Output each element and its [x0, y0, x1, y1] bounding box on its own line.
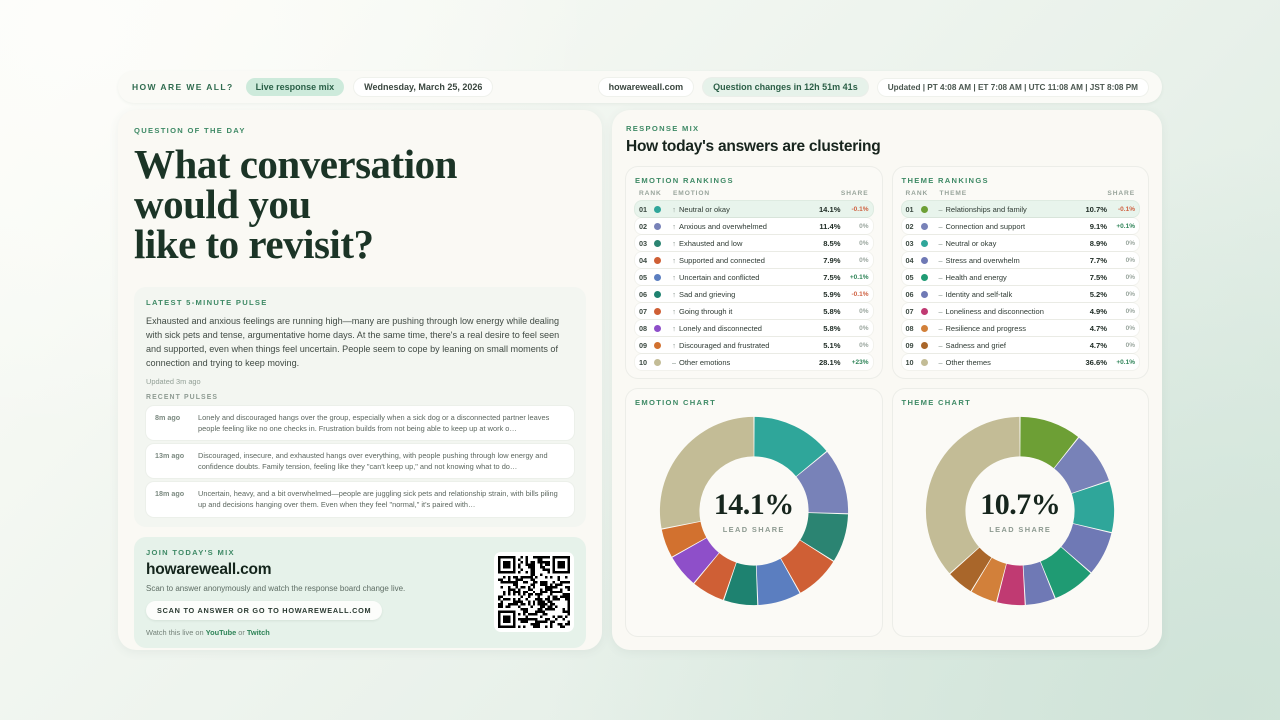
row-share: 4.7%	[1090, 324, 1107, 333]
row-share: 7.7%	[1090, 256, 1107, 265]
table-row[interactable]: 07↑Going through it5.8%0%	[635, 303, 873, 319]
row-delta: -0.1%	[845, 206, 869, 213]
row-label: Identity and self-talk	[946, 290, 1090, 299]
row-rank: 07	[906, 307, 921, 316]
row-rank: 01	[639, 205, 654, 214]
row-rank: 04	[639, 256, 654, 265]
column-header-theme: THEME	[940, 190, 1080, 197]
qr-code-icon[interactable]	[494, 552, 574, 632]
color-swatch-icon	[921, 308, 928, 315]
column-header-emotion: EMOTION	[673, 190, 813, 197]
row-delta: 0%	[1111, 274, 1135, 281]
row-delta: -0.1%	[845, 291, 869, 298]
table-row[interactable]: 02–Connection and support9.1%+0.1%	[902, 218, 1140, 234]
row-label: Stress and overwhelm	[946, 256, 1090, 265]
row-share: 36.6%	[1085, 358, 1107, 367]
response-mix-eyebrow: RESPONSE MIX	[626, 124, 1148, 133]
row-share: 5.8%	[823, 324, 840, 333]
emotion-rankings-eyebrow: EMOTION RANKINGS	[635, 176, 873, 185]
emotion-chart-eyebrow: EMOTION CHART	[635, 398, 716, 407]
emotion-table-body: 01↑Neutral or okay14.1%-0.1%02↑Anxious a…	[635, 201, 873, 370]
row-rank: 10	[639, 358, 654, 367]
row-share: 5.1%	[823, 341, 840, 350]
headline-line-3: like to revisit?	[134, 224, 586, 264]
trend-flat-icon: –	[936, 205, 946, 214]
row-delta: +0.1%	[1111, 359, 1135, 366]
theme-chart-eyebrow: THEME CHART	[902, 398, 972, 407]
color-swatch-icon	[921, 257, 928, 264]
color-swatch-icon	[654, 223, 661, 230]
table-row[interactable]: 05–Health and energy7.5%0%	[902, 269, 1140, 285]
trend-flat-icon: –	[669, 358, 679, 367]
table-row[interactable]: 09↑Discouraged and frustrated5.1%0%	[635, 337, 873, 353]
pulse-row-time: 13m ago	[155, 450, 189, 472]
row-share: 8.5%	[823, 239, 840, 248]
table-row[interactable]: 05↑Uncertain and conflicted7.5%+0.1%	[635, 269, 873, 285]
row-rank: 04	[906, 256, 921, 265]
row-label: Supported and connected	[679, 256, 823, 265]
question-panel: QUESTION OF THE DAY What conversation wo…	[118, 110, 602, 650]
watch-prefix: Watch this live on	[146, 628, 206, 637]
join-eyebrow: JOIN TODAY'S MIX	[146, 548, 484, 557]
trend-up-icon: ↑	[669, 205, 679, 214]
question-countdown-pill: Question changes in 12h 51m 41s	[703, 78, 868, 96]
emotion-table-header: RANK EMOTION SHARE	[635, 185, 873, 201]
row-delta: 0%	[1111, 325, 1135, 332]
emotion-rankings-card: EMOTION RANKINGS RANK EMOTION SHARE 01↑N…	[626, 167, 882, 378]
row-rank: 09	[639, 341, 654, 350]
table-row[interactable]: 04–Stress and overwhelm7.7%0%	[902, 252, 1140, 268]
response-mix-panel: RESPONSE MIX How today's answers are clu…	[612, 110, 1162, 650]
row-delta: 0%	[845, 308, 869, 315]
row-label: Neutral or okay	[946, 239, 1090, 248]
response-mix-title: How today's answers are clustering	[626, 138, 1148, 156]
scan-to-answer-button[interactable]: SCAN TO ANSWER OR GO TO HOWAREWEALL.COM	[146, 601, 382, 620]
table-row[interactable]: 01↑Neutral or okay14.1%-0.1%	[635, 201, 873, 217]
row-delta: 0%	[1111, 342, 1135, 349]
table-row[interactable]: 03–Neutral or okay8.9%0%	[902, 235, 1140, 251]
row-share: 10.7%	[1085, 205, 1107, 214]
watch-separator: or	[236, 628, 247, 637]
app-brand: HOW ARE WE ALL?	[132, 82, 234, 92]
row-delta: +0.1%	[1111, 223, 1135, 230]
table-row[interactable]: 08–Resilience and progress4.7%0%	[902, 320, 1140, 336]
trend-flat-icon: –	[936, 239, 946, 248]
row-label: Other emotions	[679, 358, 819, 367]
color-swatch-icon	[921, 325, 928, 332]
color-swatch-icon	[921, 342, 928, 349]
row-label: Anxious and overwhelmed	[679, 222, 819, 231]
twitch-link[interactable]: Twitch	[247, 628, 270, 637]
rankings-row: EMOTION RANKINGS RANK EMOTION SHARE 01↑N…	[626, 167, 1148, 378]
join-url[interactable]: howareweall.com	[146, 561, 484, 579]
row-label: Loneliness and disconnection	[946, 307, 1090, 316]
question-eyebrow: QUESTION OF THE DAY	[134, 126, 586, 135]
row-label: Exhausted and low	[679, 239, 823, 248]
pulse-row-text: Discouraged, insecure, and exhausted han…	[198, 450, 565, 472]
table-row[interactable]: 10–Other themes36.6%+0.1%	[902, 354, 1140, 370]
table-row[interactable]: 09–Sadness and grief4.7%0%	[902, 337, 1140, 353]
table-row[interactable]: 08↑Lonely and disconnected5.8%0%	[635, 320, 873, 336]
color-swatch-icon	[654, 240, 661, 247]
row-rank: 03	[906, 239, 921, 248]
row-delta: -0.1%	[1111, 206, 1135, 213]
color-swatch-icon	[921, 206, 928, 213]
color-swatch-icon	[921, 223, 928, 230]
theme-rankings-card: THEME RANKINGS RANK THEME SHARE 01–Relat…	[893, 167, 1149, 378]
trend-flat-icon: –	[936, 256, 946, 265]
row-delta: 0%	[1111, 308, 1135, 315]
trend-up-icon: ↑	[669, 290, 679, 299]
watch-live-line: Watch this live on YouTube or Twitch	[146, 628, 484, 637]
row-label: Connection and support	[946, 222, 1090, 231]
color-swatch-icon	[654, 257, 661, 264]
pulse-row-text: Uncertain, heavy, and a bit overwhelmed—…	[198, 488, 565, 510]
row-share: 7.5%	[1090, 273, 1107, 282]
top-status-bar: HOW ARE WE ALL? Live response mix Wednes…	[118, 71, 1162, 103]
column-header-share: SHARE	[813, 190, 869, 197]
theme-donut-svg	[922, 413, 1118, 609]
trend-flat-icon: –	[936, 273, 946, 282]
column-header-share: SHARE	[1079, 190, 1135, 197]
table-row[interactable]: 01–Relationships and family10.7%-0.1%	[902, 201, 1140, 217]
donut-slice[interactable]	[660, 417, 754, 529]
current-date-pill: Wednesday, March 25, 2026	[354, 78, 492, 96]
theme-table-header: RANK THEME SHARE	[902, 185, 1140, 201]
table-row[interactable]: 06–Identity and self-talk5.2%0%	[902, 286, 1140, 302]
latest-pulse-card: LATEST 5-MINUTE PULSE Exhausted and anxi…	[134, 287, 586, 527]
row-label: Resilience and progress	[946, 324, 1090, 333]
row-delta: 0%	[1111, 240, 1135, 247]
pulse-updated-timestamp: Updated 3m ago	[146, 377, 574, 386]
row-delta: 0%	[1111, 291, 1135, 298]
pulse-summary-text: Exhausted and anxious feelings are runni…	[146, 314, 574, 370]
row-share: 28.1%	[819, 358, 841, 367]
row-label: Health and energy	[946, 273, 1090, 282]
row-label: Uncertain and conflicted	[679, 273, 823, 282]
color-swatch-icon	[921, 274, 928, 281]
row-share: 5.9%	[823, 290, 840, 299]
pulse-row[interactable]: 8m agoLonely and discouraged hangs over …	[146, 406, 574, 440]
headline-line-1: What conversation	[134, 144, 586, 184]
trend-flat-icon: –	[936, 307, 946, 316]
pulse-row-time: 18m ago	[155, 488, 189, 510]
table-row[interactable]: 06↑Sad and grieving5.9%-0.1%	[635, 286, 873, 302]
row-delta: 0%	[845, 240, 869, 247]
row-delta: +23%	[845, 359, 869, 366]
emotion-chart-card: EMOTION CHART 14.1% LEAD SHARE	[626, 389, 882, 636]
row-rank: 07	[639, 307, 654, 316]
row-share: 11.4%	[819, 222, 840, 231]
table-row[interactable]: 02↑Anxious and overwhelmed11.4%0%	[635, 218, 873, 234]
table-row[interactable]: 07–Loneliness and disconnection4.9%0%	[902, 303, 1140, 319]
trend-up-icon: ↑	[669, 239, 679, 248]
row-label: Other themes	[946, 358, 1086, 367]
row-label: Relationships and family	[946, 205, 1086, 214]
column-header-rank: RANK	[906, 190, 940, 197]
row-rank: 03	[639, 239, 654, 248]
row-rank: 10	[906, 358, 921, 367]
join-card-text-group: JOIN TODAY'S MIX howareweall.com Scan to…	[146, 548, 484, 637]
row-delta: 0%	[845, 257, 869, 264]
row-share: 14.1%	[819, 205, 841, 214]
color-swatch-icon	[654, 308, 661, 315]
color-swatch-icon	[654, 359, 661, 366]
theme-table-body: 01–Relationships and family10.7%-0.1%02–…	[902, 201, 1140, 370]
color-swatch-icon	[921, 240, 928, 247]
charts-row: EMOTION CHART 14.1% LEAD SHARE THEME CHA…	[626, 389, 1148, 636]
row-rank: 06	[906, 290, 921, 299]
live-response-mix-badge: Live response mix	[246, 78, 345, 96]
row-share: 5.2%	[1090, 290, 1107, 299]
row-rank: 08	[906, 324, 921, 333]
join-subtitle: Scan to answer anonymously and watch the…	[146, 584, 484, 593]
row-rank: 01	[906, 205, 921, 214]
row-rank: 06	[639, 290, 654, 299]
trend-flat-icon: –	[936, 222, 946, 231]
row-share: 7.5%	[823, 273, 840, 282]
top-bar-right-group: howareweall.com Question changes in 12h …	[599, 78, 1148, 96]
trend-flat-icon: –	[936, 290, 946, 299]
pulse-row-time: 8m ago	[155, 412, 189, 434]
trend-up-icon: ↑	[669, 307, 679, 316]
emotion-donut-svg	[656, 413, 852, 609]
pulse-row[interactable]: 18m agoUncertain, heavy, and a bit overw…	[146, 482, 574, 516]
trend-up-icon: ↑	[669, 273, 679, 282]
pulse-eyebrow: LATEST 5-MINUTE PULSE	[146, 298, 574, 307]
row-rank: 05	[906, 273, 921, 282]
color-swatch-icon	[654, 206, 661, 213]
row-rank: 02	[639, 222, 654, 231]
row-delta: 0%	[845, 342, 869, 349]
row-rank: 05	[639, 273, 654, 282]
row-rank: 09	[906, 341, 921, 350]
pulse-row-text: Lonely and discouraged hangs over the gr…	[198, 412, 565, 434]
row-delta: 0%	[845, 223, 869, 230]
row-label: Lonely and disconnected	[679, 324, 823, 333]
trend-up-icon: ↑	[669, 341, 679, 350]
theme-donut-chart[interactable]: 10.7% LEAD SHARE	[922, 413, 1118, 609]
table-row[interactable]: 10–Other emotions28.1%+23%	[635, 354, 873, 370]
domain-pill[interactable]: howareweall.com	[599, 78, 694, 96]
theme-chart-card: THEME CHART 10.7% LEAD SHARE	[893, 389, 1149, 636]
color-swatch-icon	[654, 325, 661, 332]
color-swatch-icon	[654, 342, 661, 349]
color-swatch-icon	[921, 291, 928, 298]
youtube-link[interactable]: YouTube	[206, 628, 237, 637]
color-swatch-icon	[921, 359, 928, 366]
row-label: Sadness and grief	[946, 341, 1090, 350]
emotion-donut-chart[interactable]: 14.1% LEAD SHARE	[656, 413, 852, 609]
row-delta: 0%	[845, 325, 869, 332]
row-delta: 0%	[1111, 257, 1135, 264]
table-row[interactable]: 03↑Exhausted and low8.5%0%	[635, 235, 873, 251]
recent-pulses-list: 8m agoLonely and discouraged hangs over …	[146, 406, 574, 517]
pulse-row[interactable]: 13m agoDiscouraged, insecure, and exhaus…	[146, 444, 574, 478]
row-delta: +0.1%	[845, 274, 869, 281]
color-swatch-icon	[654, 291, 661, 298]
row-share: 5.8%	[823, 307, 840, 316]
qr-code-svg	[498, 556, 570, 628]
row-rank: 08	[639, 324, 654, 333]
color-swatch-icon	[654, 274, 661, 281]
row-share: 7.9%	[823, 256, 840, 265]
theme-rankings-eyebrow: THEME RANKINGS	[902, 176, 1140, 185]
donut-slice[interactable]	[926, 417, 1020, 573]
recent-pulses-label: RECENT PULSES	[146, 394, 574, 401]
trend-up-icon: ↑	[669, 256, 679, 265]
page-title: What conversation would you like to revi…	[134, 144, 586, 265]
row-label: Neutral or okay	[679, 205, 819, 214]
headline-line-2: would you	[134, 184, 586, 224]
row-label: Going through it	[679, 307, 823, 316]
row-share: 9.1%	[1090, 222, 1107, 231]
trend-up-icon: ↑	[669, 324, 679, 333]
row-share: 4.7%	[1090, 341, 1107, 350]
row-share: 8.9%	[1090, 239, 1107, 248]
row-label: Sad and grieving	[679, 290, 823, 299]
trend-up-icon: ↑	[669, 222, 679, 231]
trend-flat-icon: –	[936, 358, 946, 367]
row-label: Discouraged and frustrated	[679, 341, 823, 350]
row-rank: 02	[906, 222, 921, 231]
trend-flat-icon: –	[936, 341, 946, 350]
table-row[interactable]: 04↑Supported and connected7.9%0%	[635, 252, 873, 268]
trend-flat-icon: –	[936, 324, 946, 333]
row-share: 4.9%	[1090, 307, 1107, 316]
column-header-rank: RANK	[639, 190, 673, 197]
updated-timezones-pill: Updated | PT 4:08 AM | ET 7:08 AM | UTC …	[878, 79, 1148, 96]
join-today-card: JOIN TODAY'S MIX howareweall.com Scan to…	[134, 537, 586, 648]
